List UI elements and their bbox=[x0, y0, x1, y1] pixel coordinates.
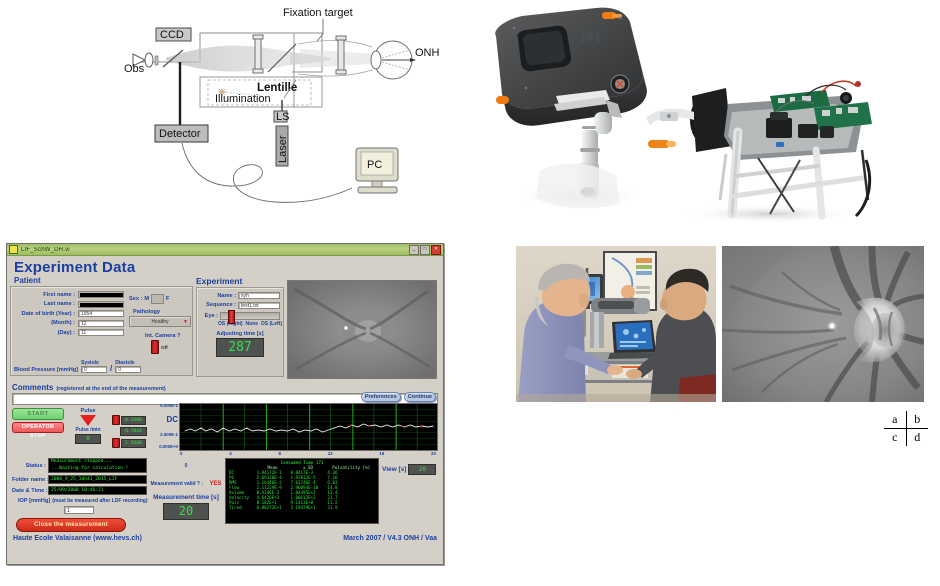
graph-xtick-0: 0 bbox=[180, 451, 182, 456]
status-value: Measurement stopped... ...Waiting for ca… bbox=[48, 458, 147, 473]
continue-button[interactable]: Continue bbox=[404, 392, 436, 402]
app-icon bbox=[9, 245, 18, 254]
exp-name-label: Name : bbox=[217, 293, 236, 299]
birth-day-label: (Day) : bbox=[58, 330, 75, 336]
threshold-2-value: 0.7043 bbox=[120, 427, 147, 436]
close-button[interactable]: ✕ bbox=[431, 245, 441, 255]
window-footer: Haute Ecole Valaisanne (www.hevs.ch) Mar… bbox=[7, 533, 443, 544]
threshold-1-toggle[interactable] bbox=[112, 415, 120, 425]
threshold-1-value: 0.1000 bbox=[121, 416, 146, 425]
int-camera-label: Int. Camera ? bbox=[145, 333, 191, 339]
sex-option-f[interactable]: F bbox=[166, 296, 169, 302]
datetime-label: Date & Time : bbox=[12, 488, 46, 494]
iop-input[interactable]: 1 bbox=[64, 506, 94, 514]
view-label: View [s] bbox=[382, 466, 406, 473]
row-mean: 6.88272E+1 bbox=[256, 505, 290, 510]
window-controls[interactable]: _ □ ✕ bbox=[409, 245, 441, 255]
legend-cell-a: a bbox=[884, 411, 906, 429]
diagram-label-onh: ONH bbox=[415, 47, 440, 59]
measurement-valid-label: Measurement valid ? : bbox=[151, 481, 204, 487]
graph-series-label: DC bbox=[166, 415, 178, 424]
diagram-label-fixation-target: Fixation target bbox=[283, 7, 353, 19]
diagram-label-detector: Detector bbox=[159, 128, 201, 140]
panel-c-software-window[interactable]: LIF_SchW_DH.vi _ □ ✕ Experiment Data Pat… bbox=[6, 243, 444, 565]
experiment-group: Name : xyh Sequence : test1.txt Eye : bbox=[196, 287, 284, 377]
bp-separator: / bbox=[110, 364, 112, 373]
legend-cell-b: b bbox=[906, 411, 928, 429]
adjusting-time-display: 287 bbox=[216, 338, 264, 357]
window-title: LIF_SchW_DH.vi bbox=[21, 247, 409, 253]
sex-option-m[interactable]: M bbox=[144, 296, 149, 302]
blood-pressure-label: Blood Pressure [mmHg] bbox=[14, 367, 78, 373]
measurement-valid-value: YES bbox=[209, 481, 221, 487]
sex-label: Sex : bbox=[129, 296, 142, 302]
threshold-3-value: 5.5000 bbox=[121, 439, 146, 448]
eye-slider[interactable] bbox=[220, 312, 280, 320]
maximize-button[interactable]: □ bbox=[420, 245, 430, 255]
eye-label: Eye : bbox=[205, 313, 218, 319]
graph-ytick-mid: 2.500E-1 bbox=[160, 432, 178, 437]
diagram-label-ls: LS bbox=[276, 111, 289, 123]
eye-slider-knob[interactable] bbox=[228, 310, 235, 324]
iop-label: IOP [mmHg] bbox=[18, 498, 50, 504]
status-label: Status : bbox=[12, 463, 46, 469]
birth-year-label: Date of birth (Year) : bbox=[22, 311, 75, 317]
diagram-label-ccd: CCD bbox=[160, 29, 184, 41]
panel-a-optical-diagram: CCD Obs ONH Fixation target Illumination… bbox=[0, 0, 470, 232]
row-name: Tired bbox=[228, 505, 256, 510]
int-camera-state: Off bbox=[161, 345, 168, 350]
diagram-label-lentille: Lentille bbox=[257, 82, 297, 94]
diastole-input[interactable]: 0 bbox=[115, 366, 141, 373]
window-titlebar[interactable]: LIF_SchW_DH.vi _ □ ✕ bbox=[7, 244, 443, 256]
window-body: Experiment Data Patient First name : Las… bbox=[7, 256, 443, 561]
folder-name-value: 2008_9_25_10h41_2015_LIF bbox=[48, 475, 147, 484]
adjusting-time-label: Adjusting time [s] bbox=[200, 331, 280, 337]
table-row: Tired 6.88272E+1 2.19479E+1 31.9 bbox=[228, 505, 376, 510]
birth-day-input[interactable]: 11 bbox=[78, 329, 124, 336]
dc-signal-graph[interactable] bbox=[179, 403, 438, 451]
birth-year-input[interactable]: 1954 bbox=[78, 310, 124, 317]
iop-hint: (must be measured after LDF recording) bbox=[52, 498, 147, 504]
exp-sequence-input[interactable]: test1.txt bbox=[238, 302, 280, 309]
pulse-per-min-display: 0 bbox=[75, 434, 101, 444]
footer-version: March 2007 / V4.3 ONH / Vaa bbox=[343, 535, 437, 542]
pathology-select[interactable]: Healthy ▼ bbox=[129, 316, 191, 327]
preferences-button[interactable]: Preferences bbox=[361, 392, 401, 402]
threshold-3-toggle[interactable] bbox=[112, 438, 120, 448]
birth-month-input[interactable]: 12 bbox=[78, 320, 124, 327]
last-name-input[interactable] bbox=[78, 301, 124, 308]
row-puls: 31.9 bbox=[326, 505, 376, 510]
pathology-label: Pathology bbox=[133, 309, 191, 315]
pulse-label: Pulse bbox=[68, 408, 108, 414]
pulse-per-min-label: Pulse /min bbox=[68, 427, 108, 433]
exp-name-input[interactable]: xyh bbox=[238, 292, 280, 299]
panel-d-clinical-session-photo bbox=[516, 246, 716, 402]
diagram-label-obs: Obs bbox=[124, 63, 145, 75]
exp-sequence-label: Sequence : bbox=[206, 302, 236, 308]
int-camera-toggle[interactable] bbox=[151, 340, 159, 354]
row-sd: 2.19479E+1 bbox=[289, 505, 326, 510]
pulse-indicator-icon bbox=[80, 415, 96, 426]
page-title: Experiment Data bbox=[14, 259, 440, 276]
patient-group: First name : Last name : Date of birth (… bbox=[10, 286, 193, 376]
measurement-time-label: Measurement time [s] bbox=[150, 494, 222, 501]
datetime-value: 25/09/2008 10:46:21 bbox=[48, 486, 147, 495]
diagram-label-illumination: Illumination bbox=[215, 93, 271, 105]
last-name-label: Last name : bbox=[44, 301, 75, 307]
eye-tick-none: None bbox=[246, 321, 259, 327]
birth-month-label: (Month) : bbox=[51, 320, 75, 326]
diagram-label-laser: Laser bbox=[277, 135, 289, 163]
footer-institution: Haute Ecole Valaisanne (www.hevs.ch) bbox=[13, 535, 142, 542]
results-table-grid: Mean ± SD Pulsatility [%] DC 1.94172E-1 … bbox=[228, 465, 376, 510]
panel-b-device-photos bbox=[470, 0, 940, 232]
graph-ytick-top: 5.000E-1 bbox=[160, 403, 178, 408]
graph-xtick-4: 16 bbox=[379, 451, 384, 456]
results-table: Consumed Time 171 Mean ± SD Pulsatility … bbox=[225, 458, 379, 524]
close-measurement-button[interactable]: Close the measurement bbox=[16, 518, 126, 532]
patient-section-label: Patient bbox=[14, 276, 193, 285]
graph-xtick-5: 20 bbox=[431, 451, 436, 456]
chevron-down-icon: ▼ bbox=[183, 319, 188, 325]
graph-ytick-bottom: 0.000E+0 bbox=[159, 444, 178, 449]
graph-xtick-2: 8 bbox=[278, 451, 280, 456]
view-value[interactable]: 20 bbox=[408, 464, 436, 475]
sex-switch[interactable] bbox=[151, 294, 164, 304]
pathology-value: Healthy bbox=[152, 319, 169, 325]
panel-legend-abcd: a b c d bbox=[884, 411, 928, 443]
legend-cell-d: d bbox=[906, 429, 928, 447]
folder-name-label: Folder name : bbox=[12, 477, 46, 483]
graph-xtick-1: 4 bbox=[229, 451, 231, 456]
experiment-section-label: Experiment bbox=[196, 276, 284, 286]
systole-input[interactable]: 0 bbox=[81, 366, 107, 373]
graph-xtick-3: 12 bbox=[328, 451, 333, 456]
minimize-button[interactable]: _ bbox=[409, 245, 419, 255]
operator-stop-button[interactable]: OPERATOR STOP bbox=[12, 422, 64, 433]
diagram-label-pc: PC bbox=[367, 159, 382, 171]
legend-cell-c: c bbox=[884, 429, 906, 447]
first-name-label: First name : bbox=[43, 292, 75, 298]
measurement-time-display: 20 bbox=[163, 503, 209, 520]
start-button[interactable]: START bbox=[12, 408, 64, 420]
measurement-x-origin: 0 bbox=[150, 463, 222, 469]
device-render-left bbox=[495, 8, 647, 210]
live-fundus-preview bbox=[287, 280, 437, 379]
first-name-input[interactable] bbox=[78, 291, 124, 298]
panel-e-fundus-image bbox=[722, 246, 924, 402]
comments-label: Comments bbox=[12, 383, 53, 392]
device-photo-right bbox=[646, 81, 872, 224]
eye-tick-left: OS (Left) bbox=[261, 321, 282, 327]
